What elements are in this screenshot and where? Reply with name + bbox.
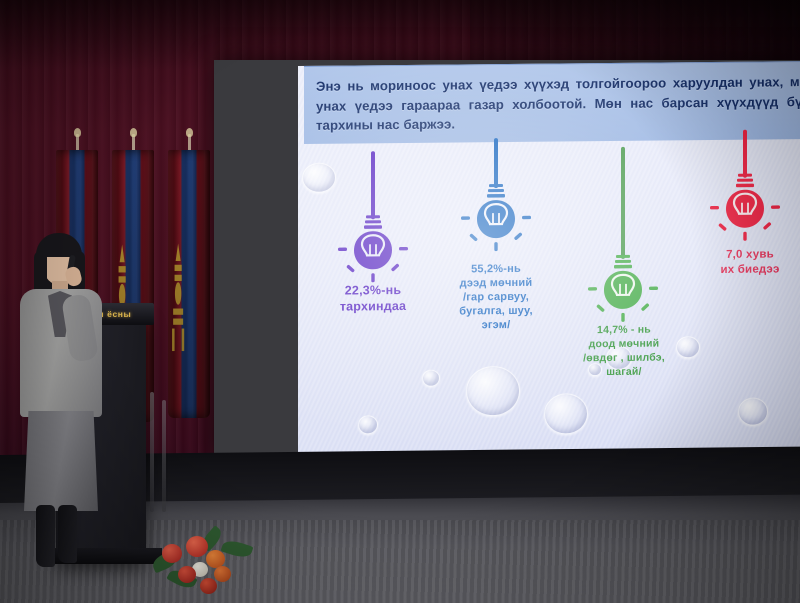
flag-finial <box>130 128 137 137</box>
bulb-green: 14,7% - нь доод мөчний /өвдөг , шилбэ, ш… <box>586 147 660 308</box>
water-droplet-decor <box>466 366 520 417</box>
bulb-red-caption: 7,0 хувь их биедээ <box>690 247 800 278</box>
bulb-purple-caption: 22,3%-нь тархиндаа <box>308 283 438 315</box>
lightbulb-icon <box>708 169 782 244</box>
water-droplet-decor <box>422 370 440 387</box>
bulb-green-label-line3: шагай/ <box>554 364 694 379</box>
bulb-blue: 55,2%-нь дээд мөчний /гар сарвуу, бугалг… <box>459 138 533 279</box>
bulb-blue-percent: 55,2%-нь <box>431 261 561 276</box>
bulb-blue-label-line4: эгэм/ <box>431 317 561 332</box>
bulb-purple: 22,3%-нь тархиндаа <box>336 151 410 282</box>
presenter-skirt <box>24 411 98 511</box>
flower-white <box>168 580 182 593</box>
lightbulb-icon <box>586 251 660 326</box>
flag-finial <box>74 128 81 137</box>
bulb-purple-label: тархиндаа <box>308 298 438 315</box>
flower-orange <box>214 566 231 582</box>
bulb-cord <box>371 151 375 219</box>
bulb-red-percent: 7,0 хувь <box>690 247 800 263</box>
water-droplet-decor <box>738 397 768 425</box>
flag-finial <box>186 128 193 137</box>
bulb-cord <box>621 147 625 259</box>
bulb-blue-label-line2: /гар сарвуу, <box>431 289 561 304</box>
flag-shading <box>168 150 210 418</box>
flower-red <box>186 536 208 557</box>
flower-red <box>200 578 217 594</box>
bulb-green-label-line2: /өвдөг , шилбэ, <box>554 350 694 365</box>
flower-arrangement <box>148 520 278 600</box>
water-droplet-decor <box>302 163 336 193</box>
bulb-green-percent: 14,7% - нь <box>554 322 694 337</box>
bulb-blue-caption: 55,2%-нь дээд мөчний /гар сарвуу, бугалг… <box>431 261 561 332</box>
flag-cloth <box>168 150 210 418</box>
flower-red <box>162 544 182 563</box>
flower-red <box>178 566 196 583</box>
bulb-green-caption: 14,7% - нь доод мөчний /өвдөг , шилбэ, ш… <box>554 322 694 379</box>
bulb-blue-label-line1: дээд мөчний <box>431 275 561 290</box>
flower-leaf <box>221 538 254 561</box>
screenshot-root: Энэ нь мориноос унах үедээ хүүхэд толгой… <box>0 0 800 603</box>
water-droplet-decor <box>358 415 378 434</box>
presenter-boot <box>58 505 77 563</box>
presenter-boot <box>36 505 55 567</box>
bulb-red-label: их биедээ <box>690 262 800 278</box>
bulb-blue-label-line3: бугалга, шуу, <box>431 303 561 318</box>
projection-screen[interactable]: Энэ нь мориноос унах үедээ хүүхэд толгой… <box>298 61 800 455</box>
mic-stand <box>162 400 166 512</box>
slide-banner-text: Энэ нь мориноос унах үедээ хүүхэд толгой… <box>316 72 800 135</box>
bulb-purple-percent: 22,3%-нь <box>308 283 438 300</box>
bulb-green-label-line1: доод мөчний <box>554 336 694 351</box>
mic-stand <box>150 392 154 512</box>
mongolian-flag <box>168 150 210 418</box>
bulb-red: 7,0 хувь их биедээ <box>708 129 782 260</box>
lightbulb-icon <box>459 180 533 255</box>
presenter-at-podium <box>10 233 118 563</box>
water-droplet-decor <box>544 393 588 434</box>
lightbulb-icon <box>336 211 410 286</box>
